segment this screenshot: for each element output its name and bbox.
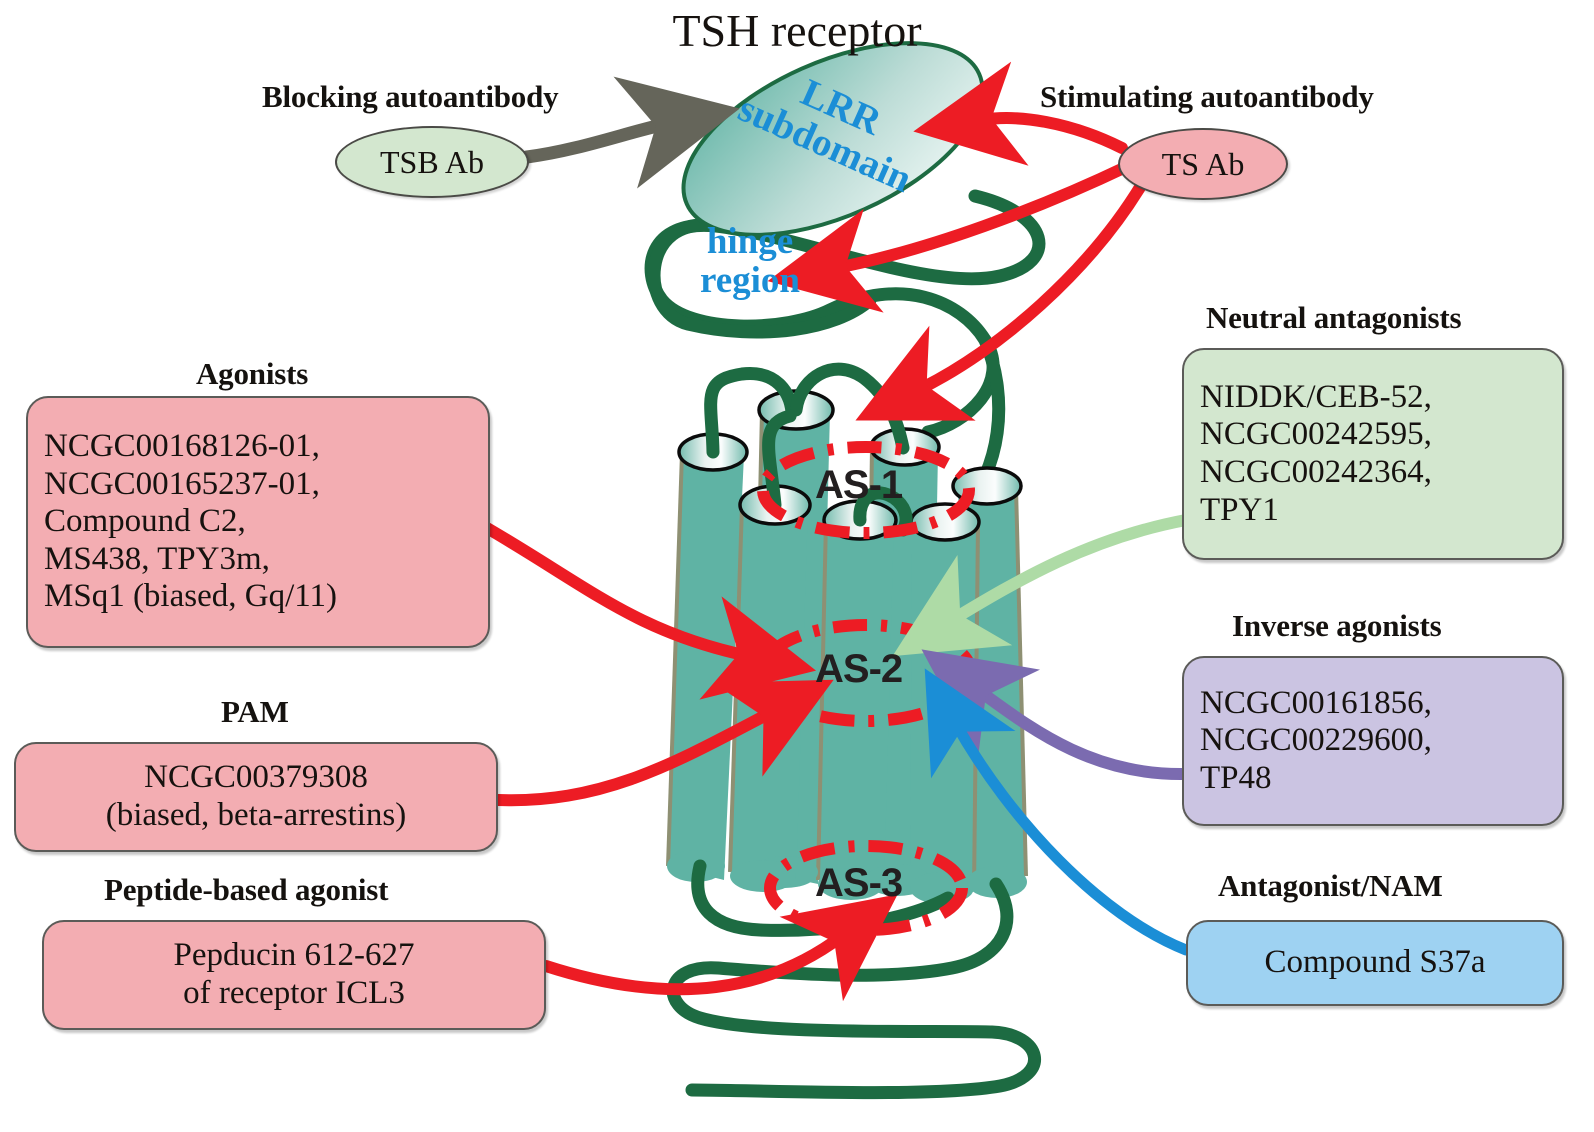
page-title: TSH receptor (0, 4, 1594, 57)
stimulating-autoantibody-label: Stimulating autoantibody (1040, 79, 1374, 115)
allosteric-site-3-label: AS-3 (815, 861, 902, 906)
agonists-panel[interactable]: NCGC00168126-01, NCGC00165237-01, Compou… (26, 396, 490, 648)
neutral-antagonists-label: Neutral antagonists (1206, 300, 1461, 336)
arrow-tsab-to-lrr (982, 118, 1122, 148)
pam-line-1: NCGC00379308 (32, 759, 480, 797)
agonists-list: NCGC00168126-01, NCGC00165237-01, Compou… (28, 428, 488, 616)
peptide-line-2: of receptor ICL3 (60, 975, 528, 1013)
arrow-tsb-to-lrr (527, 124, 666, 157)
inverse-line-1: NCGC00161856, (1200, 685, 1546, 723)
ts-ab-node[interactable]: TS Ab (1118, 128, 1288, 200)
tsb-ab-node[interactable]: TSB Ab (335, 126, 529, 198)
neutral-line-4: TPY1 (1200, 492, 1546, 530)
inverse-line-3: TP48 (1200, 760, 1546, 798)
neutral-line-2: NCGC00242595, (1200, 416, 1546, 454)
blocking-autoantibody-label: Blocking autoantibody (262, 79, 558, 115)
neutral-line-1: NIDDK/CEB-52, (1200, 379, 1546, 417)
neutral-line-3: NCGC00242364, (1200, 454, 1546, 492)
pam-line-2: (biased, beta-arrestins) (32, 797, 480, 835)
allosteric-site-2-label: AS-2 (815, 647, 902, 692)
arrow-peptide-to-as3 (546, 936, 842, 989)
inverse-line-2: NCGC00229600, (1200, 722, 1546, 760)
hinge-line-1: hinge (660, 222, 840, 261)
pam-label: PAM (221, 694, 289, 730)
agonists-line-3: Compound C2, (44, 503, 472, 541)
agonists-line-5: MSq1 (biased, Gq/11) (44, 578, 472, 616)
neutral-antagonists-list: NIDDK/CEB-52, NCGC00242595, NCGC00242364… (1184, 379, 1562, 529)
peptide-agonist-panel[interactable]: Pepducin 612-627 of receptor ICL3 (42, 920, 546, 1030)
inverse-agonists-panel[interactable]: NCGC00161856, NCGC00229600, TP48 (1182, 656, 1564, 826)
antagonist-nam-label: Antagonist/NAM (1218, 868, 1443, 904)
neutral-antagonists-panel[interactable]: NIDDK/CEB-52, NCGC00242595, NCGC00242364… (1182, 348, 1564, 560)
peptide-agonist-list: Pepducin 612-627 of receptor ICL3 (44, 937, 544, 1012)
nam-line-1: Compound S37a (1204, 944, 1546, 982)
antagonist-nam-panel[interactable]: Compound S37a (1186, 920, 1564, 1006)
peptide-agonist-label: Peptide-based agonist (104, 872, 388, 908)
hinge-line-2: region (660, 261, 840, 300)
pam-panel[interactable]: NCGC00379308 (biased, beta-arrestins) (14, 742, 498, 852)
peptide-line-1: Pepducin 612-627 (60, 937, 528, 975)
agonists-label: Agonists (196, 356, 308, 392)
antagonist-nam-list: Compound S37a (1188, 944, 1562, 982)
tsb-ab-label: TSB Ab (380, 144, 484, 181)
pam-list: NCGC00379308 (biased, beta-arrestins) (16, 759, 496, 834)
agonists-line-1: NCGC00168126-01, (44, 428, 472, 466)
agonists-line-2: NCGC00165237-01, (44, 466, 472, 504)
inverse-agonists-list: NCGC00161856, NCGC00229600, TP48 (1184, 685, 1562, 798)
diagram-canvas: TSH receptor LRR subdomain hinge region … (0, 0, 1594, 1132)
hinge-region-label: hinge region (660, 222, 840, 300)
inverse-agonists-label: Inverse agonists (1232, 608, 1442, 644)
ts-ab-label: TS Ab (1162, 146, 1245, 183)
agonists-line-4: MS438, TPY3m, (44, 541, 472, 579)
allosteric-site-1-label: AS-1 (815, 463, 902, 508)
